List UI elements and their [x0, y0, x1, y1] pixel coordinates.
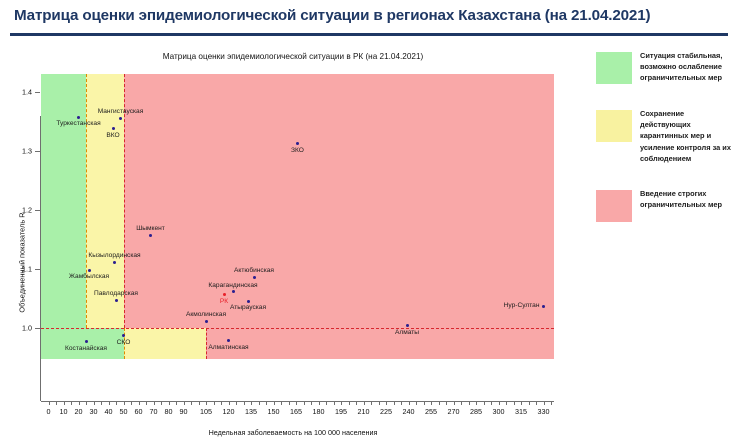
x-axis-tick-label: 20 — [75, 407, 83, 416]
x-axis-tick-label: 225 — [380, 407, 392, 416]
legend-label: Ситуация стабильная, возможно ослабление… — [640, 50, 736, 84]
x-axis-tick — [154, 401, 155, 405]
x-axis-tick-label: 285 — [470, 407, 482, 416]
x-axis-tick — [266, 401, 267, 405]
y-axis-tick-label: 1.4 — [22, 87, 32, 96]
data-point-label: Туркестанская — [56, 120, 100, 127]
x-axis-tick — [446, 401, 447, 405]
data-point-label: Атырауская — [230, 304, 266, 311]
page-header: Матрица оценки эпидемиологической ситуац… — [0, 0, 740, 42]
x-axis-label: Недельная заболеваемость на 100 000 насе… — [0, 428, 586, 437]
header-divider — [10, 33, 728, 36]
x-axis-tick-label: 70 — [150, 407, 158, 416]
x-axis-tick — [236, 401, 237, 405]
y-axis-tick-label: 1.1 — [22, 265, 32, 274]
x-axis-tick — [529, 401, 530, 405]
legend-swatch — [596, 110, 632, 142]
data-point-label: Карагандинская — [208, 282, 257, 289]
data-point-label: ВКО — [106, 132, 119, 139]
data-point-label: Акмолинская — [186, 311, 226, 318]
y-axis-line — [40, 116, 41, 401]
data-point-label: Жамбылская — [69, 273, 109, 280]
y-axis-label: Объединенный показатель R — [18, 203, 27, 323]
x-axis-tick-label: 180 — [313, 407, 325, 416]
x-axis-tick — [469, 401, 470, 405]
x-axis-tick — [341, 401, 342, 405]
x-axis-tick-label: 270 — [448, 407, 460, 416]
divider-yellow-red-lower — [206, 328, 207, 359]
x-axis-tick-label: 80 — [165, 407, 173, 416]
data-point — [232, 290, 235, 293]
x-axis-tick-label: 240 — [403, 407, 415, 416]
data-point — [253, 276, 256, 279]
x-axis-tick — [109, 401, 110, 405]
x-axis-tick — [476, 401, 477, 405]
x-axis-tick — [79, 401, 80, 405]
data-point — [149, 234, 152, 237]
x-axis-tick — [191, 401, 192, 405]
x-axis-tick — [214, 401, 215, 405]
x-axis-tick-label: 30 — [90, 407, 98, 416]
x-axis-tick — [139, 401, 140, 405]
y-axis-tick — [35, 328, 40, 329]
x-axis-tick — [124, 401, 125, 405]
x-axis-tick — [401, 401, 402, 405]
y-axis-tick — [35, 210, 40, 211]
chart-title: Матрица оценки эпидемиологической ситуац… — [0, 52, 586, 61]
x-axis-tick — [371, 401, 372, 405]
x-axis-tick — [86, 401, 87, 405]
x-axis-tick — [244, 401, 245, 405]
x-axis-tick — [514, 401, 515, 405]
page-title: Матрица оценки эпидемиологической ситуац… — [14, 7, 650, 24]
data-point-label: Шымкент — [136, 225, 165, 232]
y-axis-tick — [35, 151, 40, 152]
x-axis-tick — [499, 401, 500, 405]
x-axis-tick — [521, 401, 522, 405]
x-axis-tick — [416, 401, 417, 405]
x-axis-tick-label: 135 — [245, 407, 257, 416]
data-point-label: Павлодарская — [94, 290, 138, 297]
x-axis-tick — [454, 401, 455, 405]
y-axis-tick — [35, 92, 40, 93]
data-point — [205, 320, 208, 323]
data-point-label: Актюбинская — [234, 267, 274, 274]
x-axis-tick — [536, 401, 537, 405]
x-axis-tick-label: 330 — [538, 407, 550, 416]
x-axis-tick — [131, 401, 132, 405]
r-threshold-line — [41, 328, 554, 329]
data-point — [223, 293, 226, 296]
region-red-upper — [124, 74, 555, 328]
x-axis-tick — [251, 401, 252, 405]
x-axis-tick — [101, 401, 102, 405]
x-axis-tick — [199, 401, 200, 405]
x-axis-line — [41, 401, 554, 402]
x-axis-tick — [64, 401, 65, 405]
region-red-lower — [206, 328, 554, 359]
y-axis-tick-label: 1.2 — [22, 205, 32, 214]
legend-label: Введение строгих ограничительных мер — [640, 188, 736, 210]
x-axis-tick — [484, 401, 485, 405]
data-point — [542, 305, 545, 308]
chart-card: Матрица оценки эпидемиологической ситуац… — [0, 42, 586, 413]
x-axis-tick — [551, 401, 552, 405]
x-axis-tick-label: 300 — [493, 407, 505, 416]
x-axis-tick — [409, 401, 410, 405]
x-axis-tick — [176, 401, 177, 405]
x-axis-tick — [364, 401, 365, 405]
x-axis-tick-label: 255 — [425, 407, 437, 416]
x-axis-tick — [184, 401, 185, 405]
data-point — [113, 261, 116, 264]
x-axis-tick — [319, 401, 320, 405]
x-axis-tick — [221, 401, 222, 405]
legend-label: Сохранение действующих карантинных мер и… — [640, 108, 736, 164]
data-point-label: Алматы — [395, 329, 419, 336]
x-axis-tick — [146, 401, 147, 405]
x-axis-tick — [56, 401, 57, 405]
x-axis-tick — [281, 401, 282, 405]
x-axis-tick — [356, 401, 357, 405]
x-axis-tick — [71, 401, 72, 405]
x-axis-tick — [49, 401, 50, 405]
x-axis-tick-label: 90 — [180, 407, 188, 416]
x-axis-tick-label: 210 — [358, 407, 370, 416]
data-point-label: Нур-Султан — [504, 302, 540, 309]
x-axis-tick — [259, 401, 260, 405]
data-point — [115, 299, 118, 302]
x-axis-tick-label: 60 — [135, 407, 143, 416]
x-axis-tick-label: 10 — [60, 407, 68, 416]
x-axis-tick — [394, 401, 395, 405]
data-point-label: ЗКО — [291, 147, 304, 154]
data-point-label: Мангистауская — [98, 108, 144, 115]
x-axis-tick — [161, 401, 162, 405]
region-green-upper — [41, 74, 86, 328]
data-point-label: СКО — [117, 339, 131, 346]
y-axis-tick — [35, 269, 40, 270]
region-yellow-lower — [124, 328, 207, 359]
data-point — [247, 300, 250, 303]
x-axis-tick-label: 165 — [290, 407, 302, 416]
x-axis-tick-label: 120 — [223, 407, 235, 416]
x-axis-tick-label: 40 — [105, 407, 113, 416]
region-green-lower — [41, 328, 124, 359]
x-axis-tick-label: 105 — [200, 407, 212, 416]
data-point-label: Костанайская — [65, 345, 107, 352]
x-axis-tick — [169, 401, 170, 405]
x-axis-tick — [311, 401, 312, 405]
x-axis-tick-label: 315 — [515, 407, 527, 416]
data-point-label: Алматинская — [208, 344, 248, 351]
x-axis-tick — [296, 401, 297, 405]
data-point-label: РК — [220, 298, 228, 305]
x-axis-tick — [229, 401, 230, 405]
x-axis-tick-label: 150 — [268, 407, 280, 416]
x-axis-tick — [439, 401, 440, 405]
x-axis-tick-label: 50 — [120, 407, 128, 416]
x-axis-tick — [349, 401, 350, 405]
y-axis-tick-label: 1.0 — [22, 324, 32, 333]
legend-swatch — [596, 190, 632, 222]
data-point-label: Кызылординская — [88, 252, 140, 259]
x-axis-tick — [304, 401, 305, 405]
x-axis-tick — [379, 401, 380, 405]
x-axis-tick — [461, 401, 462, 405]
legend: Ситуация стабильная, возможно ослабление… — [586, 42, 740, 413]
legend-swatch — [596, 52, 632, 84]
x-axis-tick-label: 195 — [335, 407, 347, 416]
x-axis-tick — [424, 401, 425, 405]
x-axis-tick — [94, 401, 95, 405]
x-axis-tick — [289, 401, 290, 405]
x-axis-tick — [334, 401, 335, 405]
data-point — [77, 116, 80, 119]
x-axis-tick — [326, 401, 327, 405]
x-axis-tick — [491, 401, 492, 405]
x-axis-tick-label: 0 — [47, 407, 51, 416]
x-axis-tick — [506, 401, 507, 405]
divider-green-yellow-upper — [86, 74, 87, 328]
x-axis-tick — [386, 401, 387, 405]
x-axis-tick — [274, 401, 275, 405]
data-point — [119, 117, 122, 120]
x-axis-tick — [206, 401, 207, 405]
x-axis-tick — [431, 401, 432, 405]
data-point — [88, 269, 91, 272]
scatter-plot-area: ТуркестанскаяМангистаускаяВКОЗКОШымкентК… — [41, 74, 554, 359]
x-axis-tick — [544, 401, 545, 405]
x-axis-tick — [116, 401, 117, 405]
y-axis-tick-label: 1.3 — [22, 146, 32, 155]
